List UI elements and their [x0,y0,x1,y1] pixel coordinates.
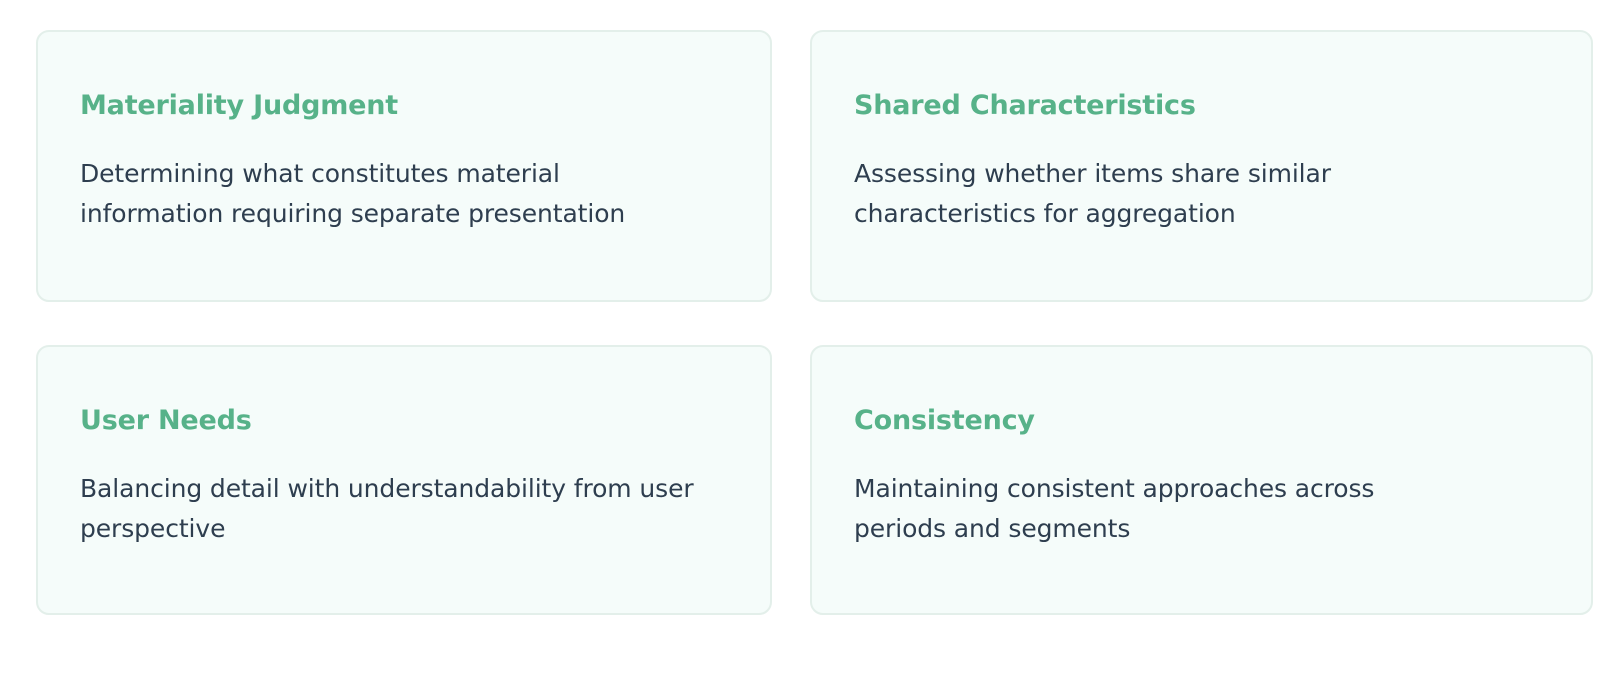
card-title: Consistency [854,405,1549,437]
page-container: Materiality Judgment Determining what co… [0,0,1620,682]
card-description: Maintaining consistent approaches across… [854,469,1454,548]
card-description: Assessing whether items share similar ch… [854,154,1454,233]
card-description: Balancing detail with understandability … [80,469,705,548]
card-description: Determining what constitutes material in… [80,154,705,233]
card-title: Materiality Judgment [80,90,728,122]
concept-card-consistency[interactable]: Consistency Maintaining consistent appro… [810,345,1593,615]
card-title: Shared Characteristics [854,90,1549,122]
concept-card-grid: Materiality Judgment Determining what co… [36,30,1593,615]
concept-card-materiality-judgment[interactable]: Materiality Judgment Determining what co… [36,30,772,302]
concept-card-user-needs[interactable]: User Needs Balancing detail with underst… [36,345,772,615]
concept-card-shared-characteristics[interactable]: Shared Characteristics Assessing whether… [810,30,1593,302]
card-title: User Needs [80,405,728,437]
